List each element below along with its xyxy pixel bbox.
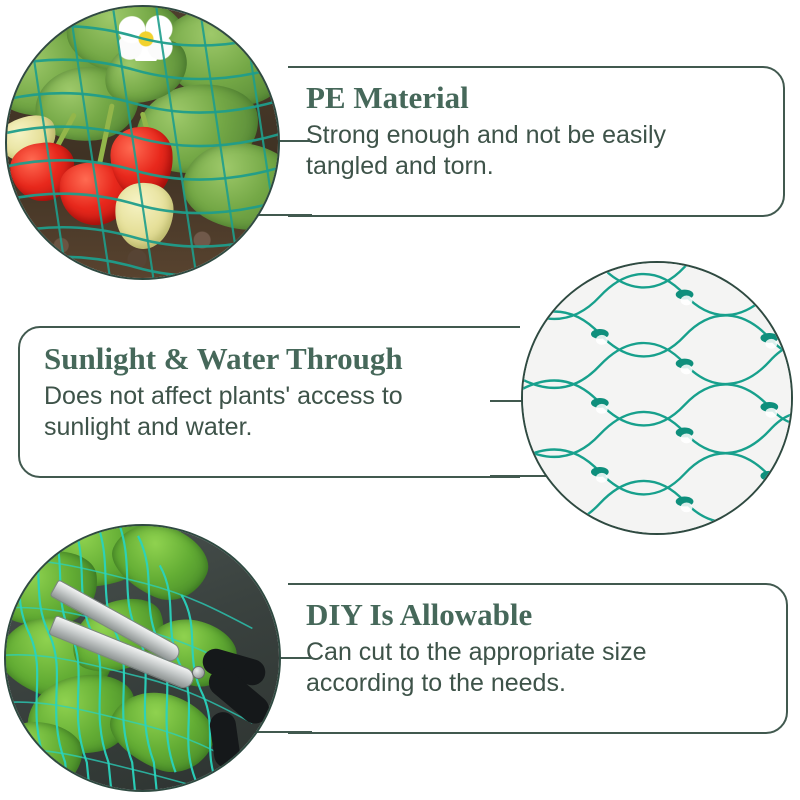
feature-image-net-closeup <box>521 261 793 535</box>
feature-body-line1-pe-material: Strong enough and not be easily <box>306 120 766 151</box>
feature-image-strawberries <box>5 5 280 280</box>
feature-body-line1-diy-allowable: Can cut to the appropriate size <box>306 637 776 668</box>
feature-text-pe-material: PE Material Strong enough and not be eas… <box>306 80 766 182</box>
net-macro-scene <box>523 263 791 533</box>
feature-body-line2-diy-allowable: according to the needs. <box>306 668 776 699</box>
feature-body-line1-sunlight-water: Does not affect plants' access to <box>44 381 504 412</box>
feature-body-line2-pe-material: tangled and torn. <box>306 151 766 182</box>
infographic-canvas: PE Material Strong enough and not be eas… <box>0 0 800 800</box>
feature-title-diy-allowable: DIY Is Allowable <box>306 597 776 633</box>
strawberry-scene <box>7 7 278 278</box>
scissors-pivot <box>192 666 205 679</box>
feature-title-sunlight-water: Sunlight & Water Through <box>44 341 504 377</box>
feature-title-pe-material: PE Material <box>306 80 766 116</box>
feature-body-line2-sunlight-water: sunlight and water. <box>44 412 504 443</box>
netting-overlay <box>7 7 278 278</box>
feature-image-scissors-cutting-net <box>4 524 281 792</box>
net-mesh <box>523 263 791 533</box>
feature-text-diy-allowable: DIY Is Allowable Can cut to the appropri… <box>306 597 776 699</box>
scissors-scene <box>6 526 279 790</box>
feature-text-sunlight-water: Sunlight & Water Through Does not affect… <box>44 341 504 443</box>
